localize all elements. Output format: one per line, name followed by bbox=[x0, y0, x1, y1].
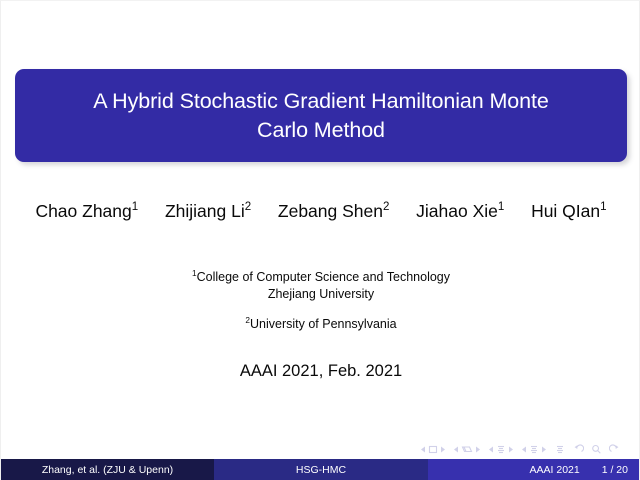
affiliation-line: Zhejiang University bbox=[61, 286, 581, 303]
author-item: Hui QIan1 bbox=[526, 201, 606, 221]
author-name: Zebang Shen bbox=[278, 201, 383, 221]
affiliation-item: 2University of Pennsylvania bbox=[61, 316, 581, 333]
frame-nav-icon[interactable] bbox=[453, 444, 481, 455]
slide-date: AAAI 2021, Feb. 2021 bbox=[61, 362, 581, 381]
author-name: Zhijiang Li bbox=[165, 201, 245, 221]
footer-conference: AAAI 2021 bbox=[530, 464, 580, 476]
footer-meta-segment: AAAI 2021 1 / 20 bbox=[428, 459, 640, 480]
slide-title: A Hybrid Stochastic Gradient Hamiltonian… bbox=[93, 87, 548, 145]
author-affil-marker: 2 bbox=[383, 201, 389, 213]
subsection-nav-icon[interactable] bbox=[488, 444, 514, 455]
author-affil-marker: 2 bbox=[245, 201, 251, 213]
footer-title-segment: HSG-HMC bbox=[214, 459, 428, 480]
beamer-navigation-bar[interactable] bbox=[420, 441, 627, 457]
affiliation-line: 1College of Computer Science and Technol… bbox=[61, 269, 581, 286]
affiliation-text: College of Computer Science and Technolo… bbox=[197, 270, 450, 284]
author-list: Chao Zhang1 Zhijiang Li2 Zebang Shen2 Ji… bbox=[31, 197, 611, 226]
author-item: Jiahao Xie1 bbox=[411, 201, 509, 221]
author-item: Chao Zhang1 bbox=[35, 201, 143, 221]
author-name: Hui QIan bbox=[531, 201, 600, 221]
section-nav-icon[interactable] bbox=[521, 444, 547, 455]
affiliation-item: 1College of Computer Science and Technol… bbox=[61, 269, 581, 302]
back-icon[interactable] bbox=[573, 444, 584, 455]
author-item: Zebang Shen2 bbox=[273, 201, 394, 221]
search-icon[interactable] bbox=[591, 444, 602, 455]
footer-author-segment: Zhang, et al. (ZJU & Upenn) bbox=[1, 459, 214, 480]
footer-page-number: 1 / 20 bbox=[602, 464, 628, 476]
author-item: Zhijiang Li2 bbox=[160, 201, 256, 221]
author-affil-marker: 1 bbox=[498, 201, 504, 213]
presentation-nav-icon[interactable] bbox=[554, 444, 566, 455]
author-affil-marker: 1 bbox=[132, 201, 138, 213]
affiliation-text: University of Pennsylvania bbox=[250, 317, 397, 331]
forward-icon[interactable] bbox=[609, 444, 620, 455]
author-name: Chao Zhang bbox=[35, 201, 131, 221]
affiliation-list: 1College of Computer Science and Technol… bbox=[61, 269, 581, 333]
title-banner: A Hybrid Stochastic Gradient Hamiltonian… bbox=[15, 69, 627, 162]
slide-nav-icon[interactable] bbox=[420, 444, 446, 455]
presentation-slide: A Hybrid Stochastic Gradient Hamiltonian… bbox=[0, 0, 640, 480]
author-affil-marker: 1 bbox=[600, 201, 606, 213]
author-name: Jiahao Xie bbox=[416, 201, 498, 221]
affiliation-line: 2University of Pennsylvania bbox=[61, 316, 581, 333]
footer-bar: Zhang, et al. (ZJU & Upenn) HSG-HMC AAAI… bbox=[1, 459, 640, 480]
